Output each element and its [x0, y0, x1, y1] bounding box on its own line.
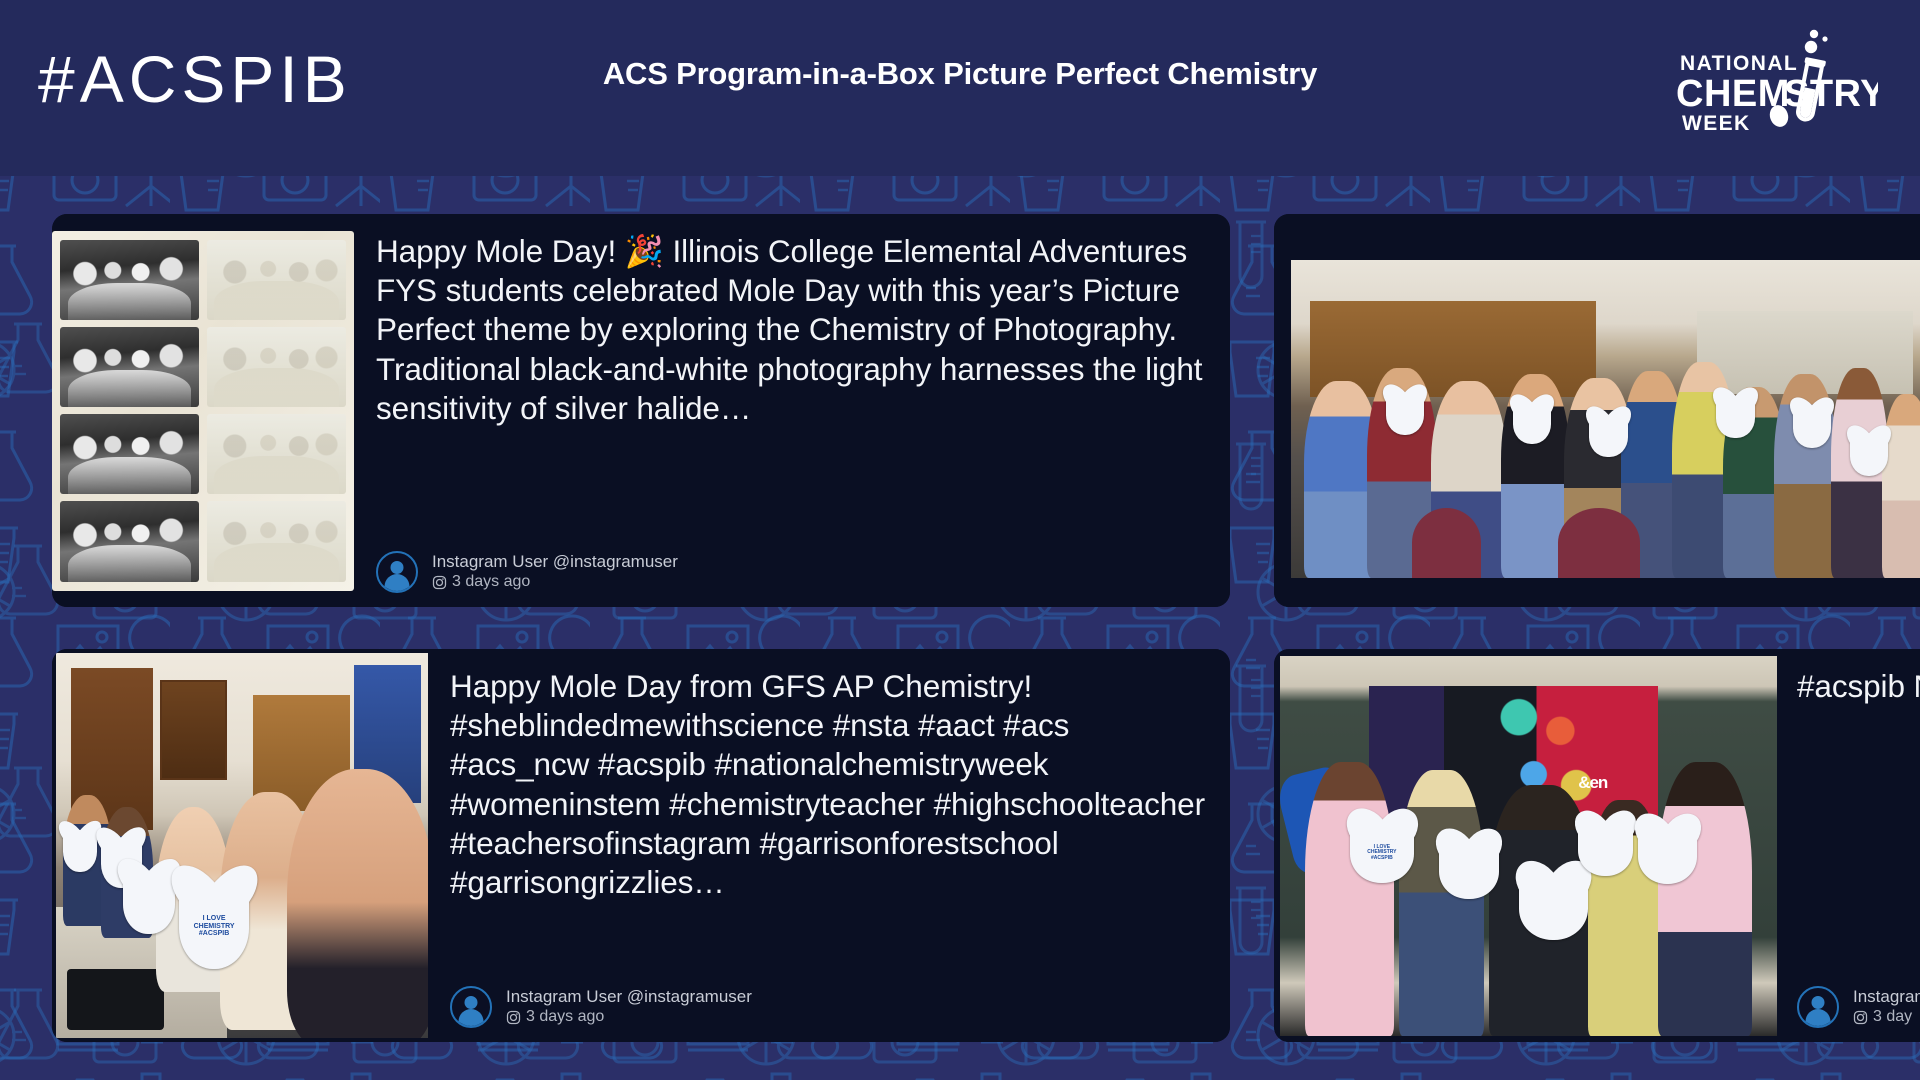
post-meta: Instagram User @instagramuser 3 days ago [432, 551, 678, 593]
heart-sign [63, 830, 96, 872]
heart-sign [1716, 397, 1754, 438]
heart-sign [1793, 406, 1831, 447]
heart-sign-text: I LOVE CHEMISTRY #ACSPIB [1350, 823, 1415, 884]
contact-sheet-frame [207, 414, 346, 494]
post-timestamp-row: 3 days ago [432, 572, 678, 593]
heart-sign-primary: I LOVE CHEMISTRY #ACSPIB [179, 884, 250, 969]
svg-text:NATIONAL: NATIONAL [1680, 52, 1798, 75]
instagram-icon [432, 575, 447, 590]
heart-sign [123, 872, 175, 934]
photo-detail [160, 680, 227, 780]
post-username: Instagram [1853, 986, 1920, 1007]
photo-chair [1558, 508, 1641, 578]
sign-line-3: #ACSPIB [199, 930, 229, 937]
post-footer: Instagram User @instagramuser 3 days ago [450, 986, 1206, 1028]
presentation-stage: #ACSPIB ACS Program-in-a-Box Picture Per… [0, 0, 1920, 1080]
contact-sheet-frame [60, 327, 199, 407]
post-timestamp: 3 day [1873, 1007, 1912, 1028]
photo-person [1658, 762, 1752, 1036]
sign-line-2: CHEMISTRY [194, 923, 235, 930]
svg-text:STRY: STRY [1784, 73, 1878, 115]
post-card-1[interactable]: Happy Mole Day! 🎉 Illinois College Eleme… [52, 214, 1230, 607]
avatar [450, 986, 492, 1028]
contact-sheet-frame [60, 240, 199, 320]
avatar [376, 551, 418, 593]
photo-person [287, 769, 428, 1039]
national-chemistry-week-logo: NATIONAL CHEM STRY WEEK [1648, 26, 1878, 134]
cen-logo-text: &en [1578, 773, 1607, 793]
post-meta: Instagram User @instagramuser 3 days ago [506, 986, 752, 1028]
instagram-icon [506, 1010, 521, 1025]
post-card-4[interactable]: &en I LOVE CHEMISTRY #ACSPIB [1274, 649, 1920, 1042]
post-timestamp-row: 3 day [1853, 1007, 1920, 1028]
heart-sign [1439, 842, 1499, 899]
post-body: Happy Mole Day from GFS AP Chemistry! #s… [428, 649, 1230, 1042]
post-card-3[interactable]: I LOVE CHEMISTRY #ACSPIB Happy Mole Day … [52, 649, 1230, 1042]
post-media-selfie[interactable]: I LOVE CHEMISTRY #ACSPIB [52, 649, 428, 1042]
classroom-selfie-image: I LOVE CHEMISTRY #ACSPIB [56, 653, 428, 1038]
sign-line-3: #ACSPIB [1371, 856, 1393, 861]
post-caption: Happy Mole Day from GFS AP Chemistry! #s… [450, 667, 1206, 902]
contact-sheet-frame [207, 501, 346, 581]
heart-sign [1638, 827, 1698, 884]
page-header: #ACSPIB ACS Program-in-a-Box Picture Per… [0, 0, 1920, 176]
post-timestamp-row: 3 days ago [506, 1007, 752, 1028]
post-timestamp: 3 days ago [526, 1007, 604, 1028]
heart-sign [1386, 394, 1424, 435]
post-timestamp: 3 days ago [452, 572, 530, 593]
post-meta: Instagram 3 day [1853, 986, 1920, 1028]
post-caption: #acspib National Week! [1797, 667, 1920, 706]
social-post-grid: Happy Mole Day! 🎉 Illinois College Eleme… [0, 176, 1920, 1080]
post-body: #acspib National Week! Instagram [1777, 649, 1920, 1042]
heart-sign [1519, 876, 1589, 941]
sign-line-1: I LOVE [203, 915, 226, 922]
post-row-1: Happy Mole Day! 🎉 Illinois College Eleme… [52, 214, 1920, 607]
post-media-group-photo[interactable] [1274, 214, 1920, 607]
avatar [1797, 986, 1839, 1028]
post-caption: Happy Mole Day! 🎉 Illinois College Eleme… [376, 232, 1206, 428]
heart-sign-text: I LOVE CHEMISTRY #ACSPIB [179, 884, 250, 969]
contact-sheet-image [52, 231, 354, 591]
photo-chair [1412, 508, 1482, 578]
photo-detail [67, 969, 164, 1031]
instagram-icon [1853, 1010, 1868, 1025]
group-photo-image [1291, 260, 1920, 578]
contact-sheet-frame [207, 327, 346, 407]
post-media-chalkboard-photo[interactable]: &en I LOVE CHEMISTRY #ACSPIB [1274, 649, 1777, 1042]
heart-sign [1578, 823, 1633, 876]
photo-person [1399, 770, 1483, 1036]
contact-sheet-frame [207, 240, 346, 320]
svg-text:CHEM: CHEM [1676, 73, 1790, 115]
post-media-contact-sheet[interactable] [52, 214, 354, 607]
heart-sign [1589, 416, 1627, 457]
heart-sign: I LOVE CHEMISTRY #ACSPIB [1350, 823, 1415, 884]
post-card-2[interactable]: Instagram User @instagramuser 3 days ago [1274, 214, 1920, 607]
photo-person [1882, 394, 1920, 578]
contact-sheet-frame [60, 414, 199, 494]
post-username: Instagram User @instagramuser [432, 551, 678, 572]
contact-sheet-frame [60, 501, 199, 581]
post-footer: Instagram 3 day [1797, 986, 1920, 1028]
svg-text:WEEK: WEEK [1682, 112, 1751, 134]
chalkboard-group-image: &en I LOVE CHEMISTRY #ACSPIB [1280, 656, 1777, 1036]
post-row-2: I LOVE CHEMISTRY #ACSPIB Happy Mole Day … [52, 649, 1920, 1042]
post-footer: Instagram User @instagramuser 3 days ago [376, 551, 1206, 593]
post-body: Happy Mole Day! 🎉 Illinois College Eleme… [354, 214, 1230, 607]
photo-person [1305, 762, 1394, 1036]
heart-sign [1850, 435, 1888, 476]
hashtag-logo: #ACSPIB [38, 46, 352, 112]
post-username: Instagram User @instagramuser [506, 986, 752, 1007]
